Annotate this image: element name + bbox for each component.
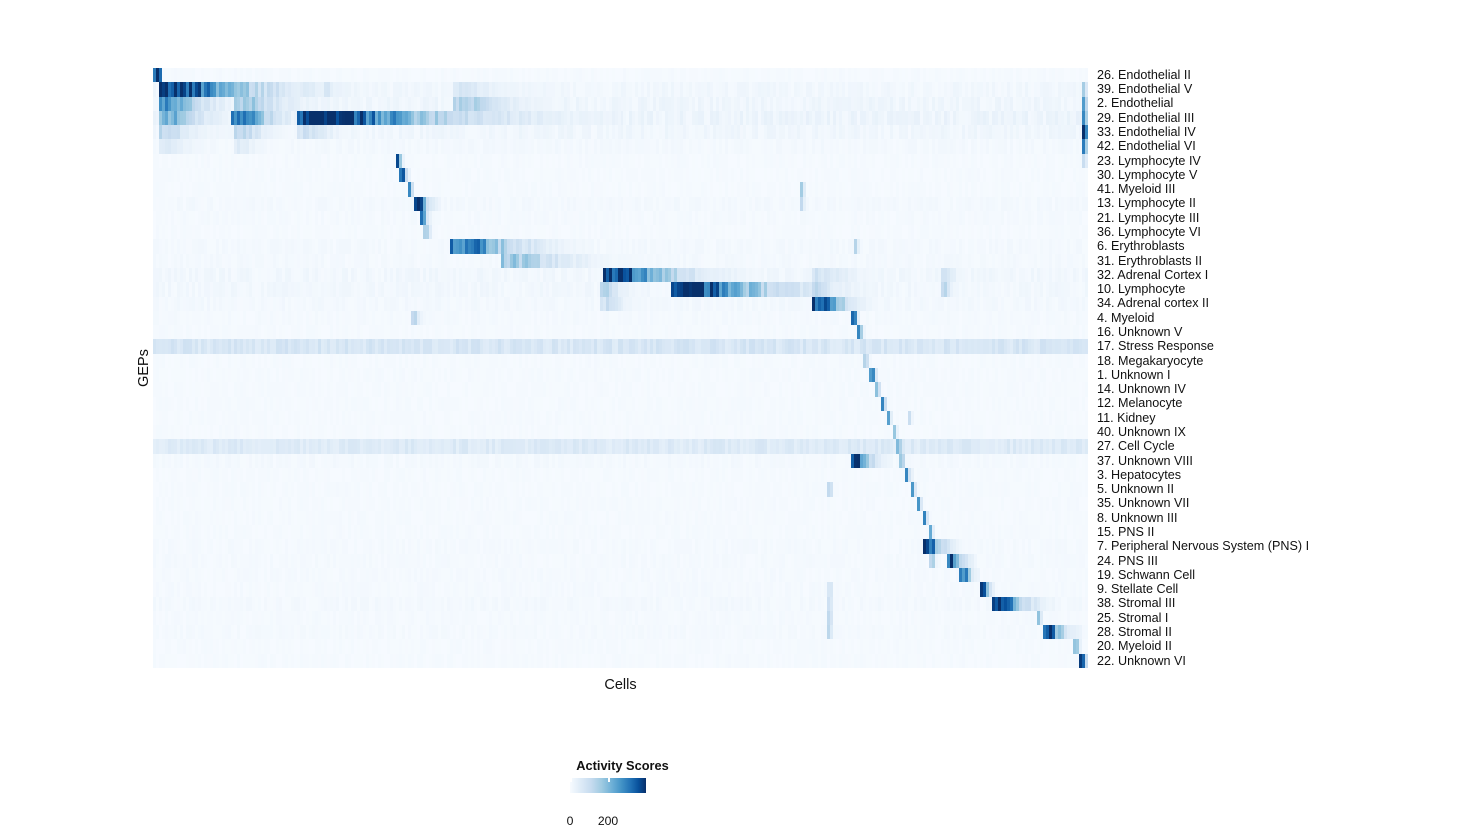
colorbar-wrapper: 0 200 (570, 778, 646, 793)
heatmap-row (153, 525, 1088, 540)
gep-row-label: 11. Kidney (1097, 412, 1156, 425)
heatmap-row (153, 211, 1088, 226)
heatmap-row (153, 482, 1088, 497)
gep-row-label: 35. Unknown VII (1097, 497, 1189, 510)
gep-row-label: 21. Lymphocyte III (1097, 212, 1199, 225)
heatmap-row (153, 654, 1088, 668)
heatmap-row (153, 282, 1088, 297)
gep-row-label: 26. Endothelial II (1097, 69, 1191, 82)
gep-row-label: 20. Myeloid II (1097, 640, 1172, 653)
gep-row-label: 4. Myeloid (1097, 312, 1154, 325)
gep-row-label: 33. Endothelial IV (1097, 126, 1196, 139)
gep-row-label: 41. Myeloid III (1097, 183, 1175, 196)
gep-row-label: 32. Adrenal Cortex I (1097, 269, 1208, 282)
heatmap-row (153, 497, 1088, 512)
heatmap-row (153, 539, 1088, 554)
gep-row-label: 3. Hepatocytes (1097, 469, 1181, 482)
heatmap-row (153, 411, 1088, 426)
gep-row-label: 10. Lymphocyte (1097, 283, 1185, 296)
gep-row-label: 23. Lymphocyte IV (1097, 155, 1201, 168)
gep-row-label: 15. PNS II (1097, 526, 1154, 539)
heatmap-row (153, 139, 1088, 154)
heatmap-row (153, 597, 1088, 612)
heatmap-row (153, 625, 1088, 640)
gep-row-label: 25. Stromal I (1097, 612, 1168, 625)
heatmap-row (153, 82, 1088, 97)
gep-row-label: 30. Lymphocyte V (1097, 169, 1197, 182)
heatmap-row (153, 111, 1088, 126)
gep-row-label: 13. Lymphocyte II (1097, 197, 1196, 210)
heatmap-row (153, 439, 1088, 454)
heatmap-row (153, 382, 1088, 397)
gep-row-label: 9. Stellate Cell (1097, 583, 1178, 596)
colorbar-tick-200 (608, 778, 610, 782)
heatmap-row (153, 511, 1088, 526)
x-axis-title: Cells (153, 677, 1088, 693)
heatmap-row (153, 639, 1088, 654)
heatmap-row (153, 268, 1088, 283)
colorbar-tick-label-200: 200 (588, 814, 628, 828)
gep-row-label: 36. Lymphocyte VI (1097, 226, 1201, 239)
heatmap-row (153, 254, 1088, 269)
heatmap-row (153, 197, 1088, 212)
gep-row-label: 39. Endothelial V (1097, 83, 1192, 96)
heatmap-row (153, 354, 1088, 369)
gep-row-label: 40. Unknown IX (1097, 426, 1186, 439)
heatmap-row (153, 239, 1088, 254)
heatmap-row (153, 311, 1088, 326)
gep-row-label: 17. Stress Response (1097, 340, 1214, 353)
heatmap-row (153, 182, 1088, 197)
heatmap-row (153, 397, 1088, 412)
colorbar-tick-0 (570, 778, 572, 782)
heatmap-row (153, 454, 1088, 469)
gep-row-label: 28. Stromal II (1097, 626, 1172, 639)
gep-row-label: 19. Schwann Cell (1097, 569, 1195, 582)
heatmap-row (153, 68, 1088, 83)
heatmap-row (153, 568, 1088, 583)
gep-row-label: 14. Unknown IV (1097, 383, 1186, 396)
colorbar-title: Activity Scores (470, 758, 775, 773)
heatmap-row (153, 125, 1088, 140)
gep-row-label: 37. Unknown VIII (1097, 455, 1193, 468)
gep-row-label: 38. Stromal III (1097, 597, 1175, 610)
gep-row-label: 7. Peripheral Nervous System (PNS) I (1097, 540, 1309, 553)
gep-row-label: 42. Endothelial VI (1097, 140, 1196, 153)
gep-row-label: 8. Unknown III (1097, 512, 1178, 525)
heatmap-row (153, 339, 1088, 354)
gep-row-label: 6. Erythroblasts (1097, 240, 1185, 253)
heatmap-row (153, 297, 1088, 312)
colorbar-legend: Activity Scores 0 200 (0, 758, 1457, 815)
gep-row-labels: 26. Endothelial II39. Endothelial V2. En… (1097, 68, 1447, 668)
y-axis-title: GEPs (136, 68, 156, 668)
gep-row-label: 22. Unknown VI (1097, 655, 1186, 668)
gep-row-label: 12. Melanocyte (1097, 397, 1182, 410)
gep-row-label: 18. Megakaryocyte (1097, 355, 1203, 368)
gep-row-label: 27. Cell Cycle (1097, 440, 1175, 453)
colorbar-tick-label-0: 0 (550, 814, 590, 828)
heatmap-row (153, 325, 1088, 340)
heatmap-row (153, 154, 1088, 169)
gep-row-label: 24. PNS III (1097, 555, 1158, 568)
gep-row-label: 31. Erythroblasts II (1097, 255, 1202, 268)
heatmap-row (153, 611, 1088, 626)
gep-row-label: 34. Adrenal cortex II (1097, 297, 1209, 310)
gep-row-label: 29. Endothelial III (1097, 112, 1194, 125)
heatmap-row (153, 582, 1088, 597)
heatmap-row (153, 225, 1088, 240)
heatmap-plot-area (153, 68, 1088, 668)
gep-row-label: 5. Unknown II (1097, 483, 1174, 496)
heatmap-row (153, 168, 1088, 183)
gep-row-label: 16. Unknown V (1097, 326, 1182, 339)
heatmap-row (153, 468, 1088, 483)
gep-row-label: 1. Unknown I (1097, 369, 1171, 382)
gep-row-label: 2. Endothelial (1097, 97, 1173, 110)
heatmap-row (153, 368, 1088, 383)
heatmap-row (153, 554, 1088, 569)
heatmap-figure: 26. Endothelial II39. Endothelial V2. En… (0, 0, 1457, 815)
heatmap-row (153, 425, 1088, 440)
heatmap-row (153, 97, 1088, 112)
